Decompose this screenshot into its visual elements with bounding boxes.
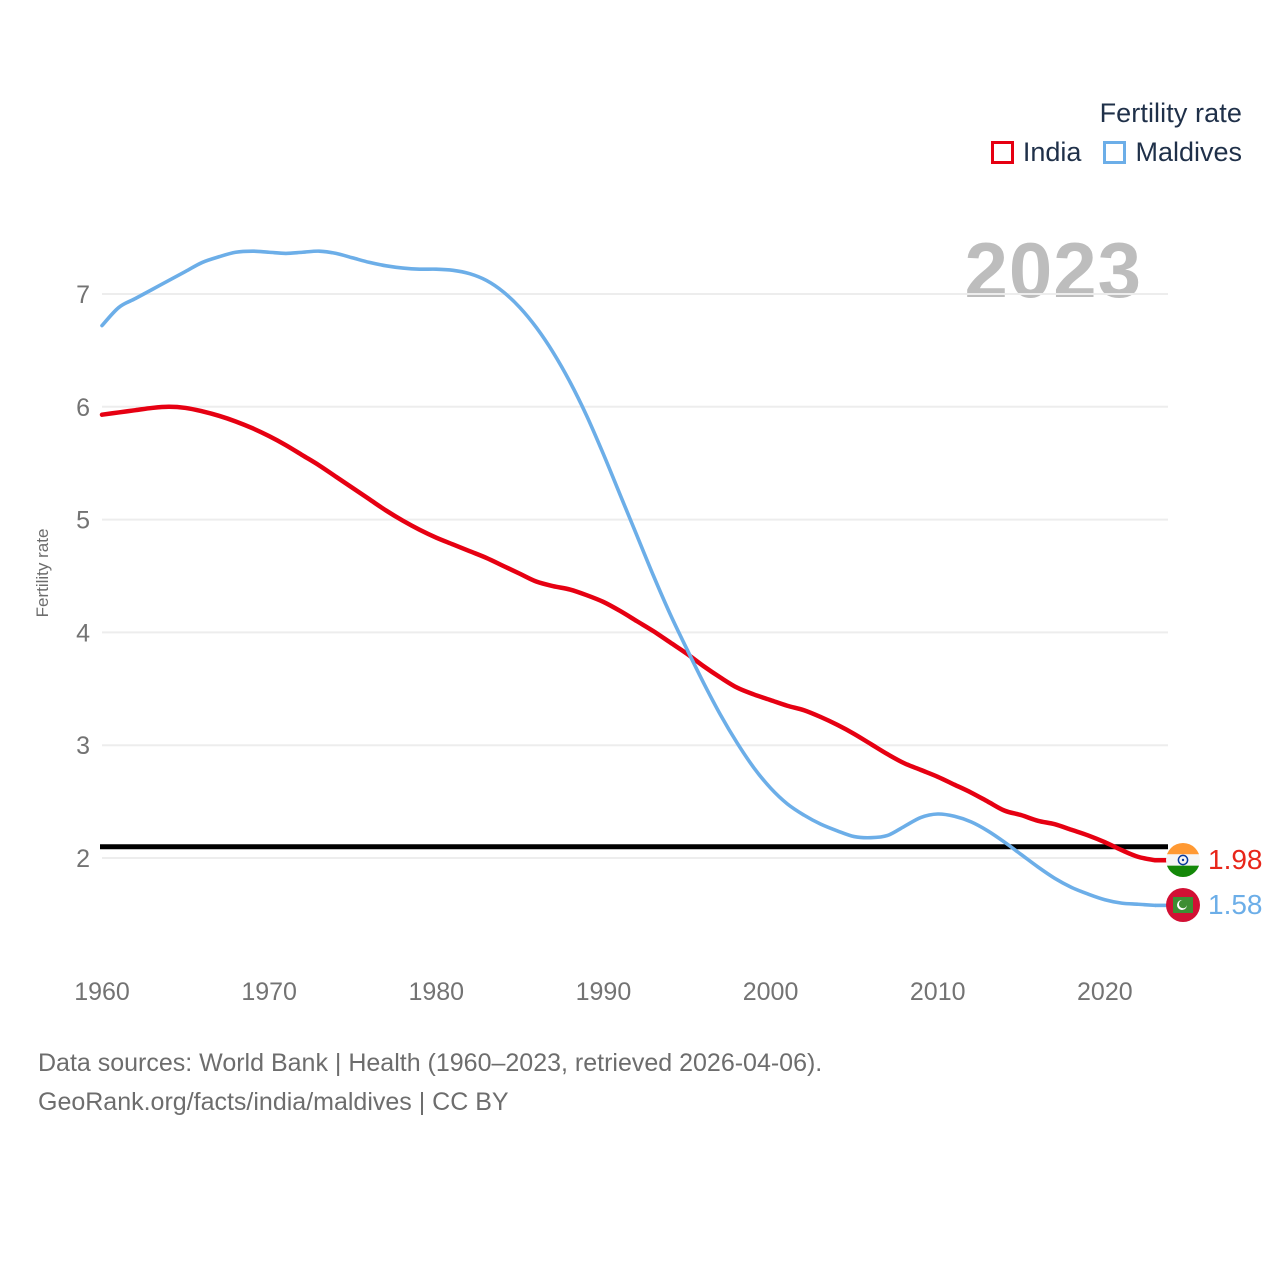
- y-tick-label: 7: [76, 281, 90, 309]
- y-axis-title: Fertility rate: [33, 529, 52, 618]
- series-paths: [102, 251, 1168, 905]
- x-tick-label: 1960: [74, 978, 130, 1006]
- y-tick-label: 5: [76, 507, 90, 535]
- x-tick-label: 2000: [743, 978, 799, 1006]
- x-tick-label: 2010: [910, 978, 966, 1006]
- y-tick-label: 2: [76, 845, 90, 873]
- end-label-india: 1.98: [1166, 843, 1263, 877]
- gridlines: [102, 294, 1168, 858]
- x-tick-label: 1980: [408, 978, 464, 1006]
- chart-page: Fertility rate India Maldives 2023 76543…: [0, 0, 1280, 1280]
- india-flag-icon: [1166, 843, 1200, 877]
- x-tick-label: 1970: [241, 978, 297, 1006]
- end-label-maldives: 1.58: [1166, 888, 1263, 922]
- footer-line-sources: Data sources: World Bank | Health (1960–…: [38, 1044, 822, 1083]
- x-tick-labels: 1960197019801990200020102020: [74, 978, 1132, 1006]
- x-tick-label: 1990: [576, 978, 632, 1006]
- end-value-maldives: 1.58: [1208, 891, 1263, 919]
- y-tick-label: 3: [76, 732, 90, 760]
- series-line-india[interactable]: [102, 407, 1155, 860]
- footer-line-url[interactable]: GeoRank.org/facts/india/maldives | CC BY: [38, 1083, 822, 1122]
- y-tick-label: 4: [76, 619, 90, 647]
- y-tick-labels: 765432: [76, 281, 90, 873]
- x-tick-label: 2020: [1077, 978, 1133, 1006]
- footer-attribution: Data sources: World Bank | Health (1960–…: [38, 1044, 822, 1122]
- end-value-india: 1.98: [1208, 846, 1263, 874]
- maldives-flag-icon: [1166, 888, 1200, 922]
- y-tick-label: 6: [76, 394, 90, 422]
